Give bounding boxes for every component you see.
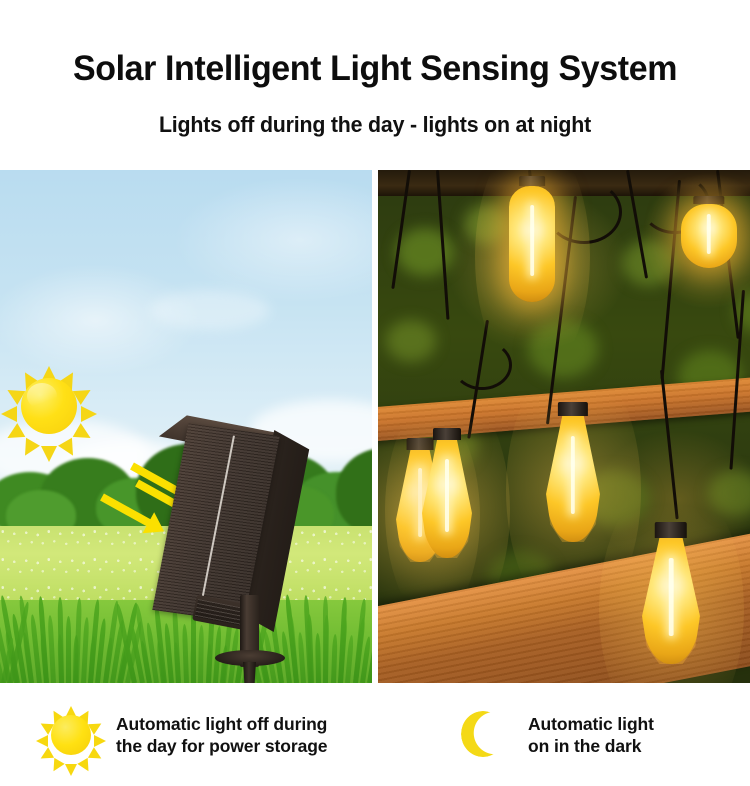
bulb-cap bbox=[693, 196, 724, 204]
page-subtitle: Lights off during the day - lights on at… bbox=[11, 112, 739, 138]
bulb-cap bbox=[655, 522, 687, 538]
light-cord-loop bbox=[452, 340, 512, 390]
caption-line: Automatic light off during bbox=[116, 713, 327, 735]
sun-disc bbox=[51, 715, 91, 755]
caption-daytime-text: Automatic light off during the day for p… bbox=[116, 713, 327, 757]
page-title: Solar Intelligent Light Sensing System bbox=[11, 50, 739, 88]
sun-icon bbox=[40, 704, 102, 766]
sun-ray bbox=[36, 735, 48, 747]
caption-line: on in the dark bbox=[528, 735, 654, 757]
moon-crescent bbox=[461, 711, 505, 757]
ground-stake bbox=[243, 662, 256, 683]
caption-row: Automatic light off during the day for p… bbox=[0, 683, 750, 786]
bulb-cap bbox=[558, 402, 588, 416]
bokeh-blob bbox=[386, 320, 436, 362]
header: Solar Intelligent Light Sensing System L… bbox=[0, 0, 750, 170]
caption-nighttime-text: Automatic light on in the dark bbox=[528, 713, 654, 757]
caption-line: Automatic light bbox=[528, 713, 654, 735]
bulb-filament bbox=[669, 558, 674, 636]
edison-bulb bbox=[681, 196, 737, 268]
edison-bulb bbox=[642, 522, 700, 664]
sun-ray bbox=[48, 757, 64, 773]
caption-nighttime: Automatic light on in the dark bbox=[452, 683, 750, 786]
photo-band bbox=[0, 170, 750, 683]
bulb-cap bbox=[519, 176, 545, 186]
nighttime-string-lights-photo bbox=[378, 170, 750, 683]
bulb-cap bbox=[433, 428, 461, 440]
caption-daytime: Automatic light off during the day for p… bbox=[40, 683, 375, 786]
sun-ray bbox=[88, 747, 104, 763]
bulb-filament bbox=[707, 214, 711, 254]
solar-lamp bbox=[0, 170, 372, 683]
bokeh-blob bbox=[622, 240, 676, 286]
edison-bulb bbox=[509, 176, 555, 302]
bulb-filament bbox=[571, 436, 575, 514]
edison-bulb bbox=[546, 402, 600, 542]
crescent-moon-icon bbox=[452, 704, 514, 766]
light-cord-loop bbox=[546, 180, 622, 244]
sun-ray bbox=[94, 735, 106, 747]
bokeh-blob bbox=[464, 204, 508, 244]
daytime-solar-panel-photo bbox=[0, 170, 372, 683]
bokeh-blob bbox=[528, 320, 598, 378]
sun-ray bbox=[65, 764, 77, 776]
caption-line: the day for power storage bbox=[116, 735, 327, 757]
solar-panel-busbar bbox=[199, 436, 235, 611]
bulb-filament bbox=[530, 205, 534, 277]
product-feature-banner: Solar Intelligent Light Sensing System L… bbox=[0, 0, 750, 786]
bulb-filament bbox=[445, 459, 449, 532]
edison-bulb bbox=[422, 428, 472, 558]
